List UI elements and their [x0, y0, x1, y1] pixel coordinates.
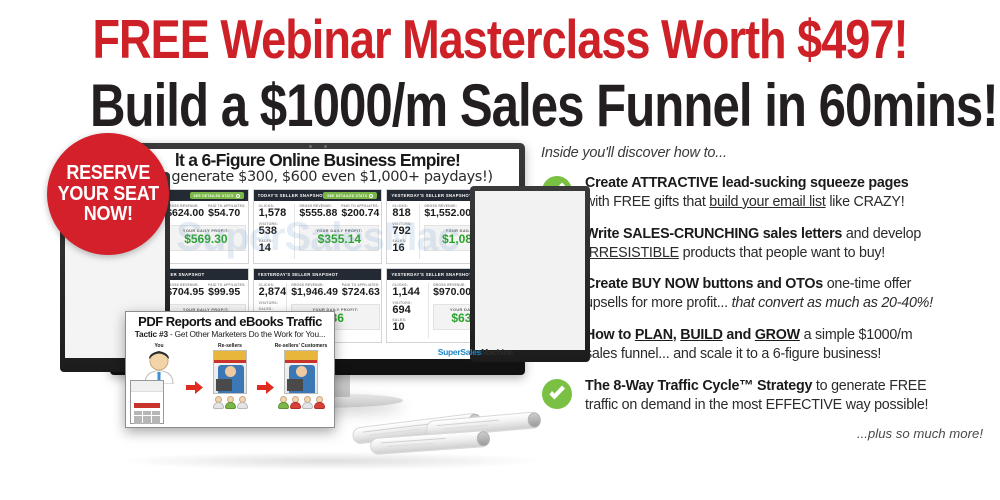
paid-to-affiliates: PAID TO AFFILIATES:$99.95	[208, 283, 246, 299]
benefit-line1-post: and develop	[842, 226, 921, 242]
benefit-underline-build: BUILD	[680, 327, 722, 343]
benefit-line2-underline: IRRESISTIBLE	[585, 245, 679, 261]
gross-revenue: GROSS REVENUE:$970.00	[433, 283, 471, 299]
supersalesmachine-logo: SuperSalesMachine	[438, 347, 513, 357]
benefit-item: Create BUY NOW buttons and OTOs one-time…	[541, 275, 987, 313]
popup-tactic-number: Tactic #3	[135, 329, 168, 339]
card-header: YESTERDAY'S SELLER SNAPSHOT	[254, 269, 382, 280]
badge-line-1: RESERVE	[57, 163, 158, 183]
see-detailed-stats-button[interactable]: SEE DETAILED STATS	[323, 192, 377, 199]
dashboard-header: lt a 6-Figure Online Business Empire! ca…	[116, 149, 519, 187]
gross-revenue: GROSS REVENUE:$624.00	[166, 204, 204, 220]
ebook-cover-image	[213, 350, 247, 394]
card-revenue-column: GROSS REVENUE:$624.00 PAID TO AFFILIATES…	[161, 204, 246, 259]
badge-line-3: NOW!	[57, 204, 158, 224]
benefit-underline-plan: PLAN	[635, 327, 673, 343]
benefit-line1-bold: Create ATTRACTIVE lead-sucking squeeze p…	[585, 175, 908, 191]
see-detailed-stats-button[interactable]: SEE DETAILED STATS	[190, 192, 244, 199]
customer-crowd-icon	[203, 396, 257, 409]
flow-arrow-icon	[186, 381, 203, 394]
bezel-indicator-dots	[309, 145, 327, 148]
secondary-monitor-right	[470, 186, 590, 362]
customer-crowd-icon	[274, 396, 328, 409]
card-body: CLICKS:1,578 VISITORS:538 SALES:14 GROSS…	[254, 201, 382, 263]
metric-clicks: CLICKS:1,578	[259, 204, 295, 220]
card-title: TODAY'S SELLER SNAPSHOT	[258, 193, 324, 198]
flow-step-you: You	[132, 343, 186, 384]
gross-revenue: GROSS REVENUE:$704.95	[166, 283, 204, 299]
plus-more-text: ...plus so much more!	[541, 426, 987, 441]
flow-caption: Re-sellers' Customers	[274, 343, 328, 349]
card-title: YESTERDAY'S SELLER SNAPSHOT	[258, 272, 339, 277]
benefits-column: Inside you'll discover how to... Create …	[541, 145, 987, 441]
paid-to-affiliates: PAID TO AFFILIATES:$54.70	[208, 204, 246, 220]
benefit-underline-grow: GROW	[755, 327, 800, 343]
benefit-line1-bold: Create BUY NOW buttons and OTOs	[585, 276, 823, 292]
benefit-line1-post: a simple $1000/m	[800, 327, 913, 343]
checkmark-icon	[541, 378, 573, 410]
metric-visitors: VISITORS:538	[259, 222, 295, 238]
popup-subtitle: Tactic #3 - Get Other Marketers Do the W…	[130, 330, 330, 340]
card-title: YESTERDAY'S SELLER SNAPSHOT	[391, 193, 472, 198]
paid-to-affiliates: PAID TO AFFILIATES:$724.63	[342, 283, 380, 299]
dashboard-subtitle: can generate $300, $600 even $1,000+ pay…	[120, 169, 515, 186]
benefit-item: Create ATTRACTIVE lead-sucking squeeze p…	[541, 174, 987, 212]
secondary-monitor-right-screen	[475, 191, 585, 350]
card-metrics-column: CLICKS:1,578 VISITORS:538 SALES:14	[256, 204, 295, 259]
squeeze-page-thumbnail	[130, 380, 164, 424]
card-revenue-column: GROSS REVENUE:$555.88 PAID TO AFFILIATES…	[294, 204, 379, 259]
metric-clicks: CLICKS:1,144	[392, 283, 428, 299]
benefit-line2-pre: with FREE gifts that	[585, 194, 709, 210]
paid-to-affiliates: PAID TO AFFILIATES:$200.74	[341, 204, 379, 220]
benefits-intro: Inside you'll discover how to...	[541, 145, 987, 161]
card-title: YESTERDAY'S SELLER SNAPSHOT	[391, 272, 472, 277]
reserve-your-seat-badge[interactable]: RESERVE YOUR SEAT NOW!	[47, 133, 169, 255]
landing-page-banner: FREE Webinar Masterclass Worth $497! Bui…	[0, 0, 1000, 500]
flow-caption: Re-sellers	[203, 343, 257, 349]
metric-sales: SALES:16	[392, 239, 419, 255]
metric-sales: SALES:10	[392, 318, 428, 334]
gross-revenue: GROSS REVENUE:$1,946.49	[291, 283, 338, 299]
traffic-tactic-popup[interactable]: PDF Reports and eBooks Traffic Tactic #3…	[125, 311, 335, 428]
benefit-text: Create BUY NOW buttons and OTOs one-time…	[585, 275, 933, 313]
flow-caption: You	[132, 343, 186, 349]
benefit-item: Write SALES-CRUNCHING sales letters and …	[541, 225, 987, 263]
benefit-text: Write SALES-CRUNCHING sales letters and …	[585, 225, 921, 263]
benefit-item: How to PLAN, BUILD and GROW a simple $10…	[541, 326, 987, 364]
benefit-line2-underline: build your email list	[709, 194, 825, 210]
gross-revenue: GROSS REVENUE:$555.88	[299, 204, 337, 220]
metric-visitors: VISITORS:694	[392, 301, 428, 317]
flow-arrow-icon	[257, 381, 274, 394]
benefit-line1-post: to generate FREE	[812, 378, 926, 394]
benefit-line2-italic: that convert as much as 20-40%!	[732, 295, 933, 311]
gross-revenue: GROSS REVENUE:$1,552.00	[424, 204, 471, 220]
dashboard-card-row: APSHOT SEE DETAILED STATS CLICKS: VISITO…	[119, 189, 516, 264]
flow-step-resellers: Re-sellers	[203, 343, 257, 409]
blueprint-scrolls	[352, 404, 537, 474]
benefit-line1-bold: Write SALES-CRUNCHING sales letters	[585, 226, 842, 242]
benefit-line2: traffic on demand in the most EFFECTIVE …	[585, 397, 928, 413]
metric-visitors: VISITORS:	[259, 301, 287, 305]
seller-snapshot-card[interactable]: TODAY'S SELLER SNAPSHOT SEE DETAILED STA…	[253, 189, 383, 264]
benefit-text: The 8-Way Traffic Cycle™ Strategy to gen…	[585, 377, 928, 415]
arrow-circle-icon	[236, 194, 240, 198]
popup-subtitle-rest: - Get Other Marketers Do the Work for Yo…	[168, 329, 325, 339]
metric-visitors: VISITORS:792	[392, 222, 419, 238]
metric-sales: SALES:14	[259, 239, 295, 255]
metric-clicks: CLICKS:2,874	[259, 283, 287, 299]
arrow-circle-icon	[369, 194, 373, 198]
benefit-line2-post: like CRAZY!	[826, 194, 905, 210]
benefit-line1-bold: The 8-Way Traffic Cycle™ Strategy	[585, 378, 812, 394]
ebook-cover-image	[284, 350, 318, 394]
benefit-text: Create ATTRACTIVE lead-sucking squeeze p…	[585, 174, 908, 212]
benefit-line2-post: products that people want to buy!	[679, 245, 885, 261]
benefit-line1-post: one-time offer	[823, 276, 911, 292]
traffic-flow-diagram: You Re-s	[130, 343, 330, 409]
dashboard-title: lt a 6-Figure Online Business Empire!	[120, 151, 515, 169]
card-metrics-column: CLICKS:1,144 VISITORS:694 SALES:10	[389, 283, 428, 338]
headline-line-1: FREE Webinar Masterclass Worth $497!	[90, 8, 910, 67]
card-metrics-column: CLICKS:818 VISITORS:792 SALES:16	[389, 204, 419, 259]
badge-line-2: YOUR SEAT	[57, 184, 158, 204]
benefit-line2-pre: upsells for more profit...	[585, 295, 732, 311]
logo-text-dark: Machine	[481, 347, 513, 357]
popup-title: PDF Reports and eBooks Traffic	[130, 315, 330, 329]
card-header: TODAY'S SELLER SNAPSHOT SEE DETAILED STA…	[254, 190, 382, 201]
headline-line-2: Build a $1000/m Sales Funnel in 60mins!	[90, 67, 910, 136]
metric-clicks: CLICKS:818	[392, 204, 419, 220]
flow-step-resellers-customers: Re-sellers' Customers	[274, 343, 328, 409]
logo-text-blue: SuperSales	[438, 347, 481, 357]
benefit-item: The 8-Way Traffic Cycle™ Strategy to gen…	[541, 377, 987, 415]
benefit-sep-2: and	[723, 327, 755, 343]
headline-block: FREE Webinar Masterclass Worth $497! Bui…	[0, 8, 1000, 136]
daily-profit-box: YOUR DAILY PROFIT: $355.14	[299, 225, 379, 251]
daily-profit-box: YOUR DAILY PROFIT: $569.30	[166, 225, 246, 251]
benefit-line1-pre: How to	[585, 327, 635, 343]
benefit-line2: sales funnel... and scale it to a 6-figu…	[585, 346, 881, 362]
benefit-text: How to PLAN, BUILD and GROW a simple $10…	[585, 326, 912, 364]
